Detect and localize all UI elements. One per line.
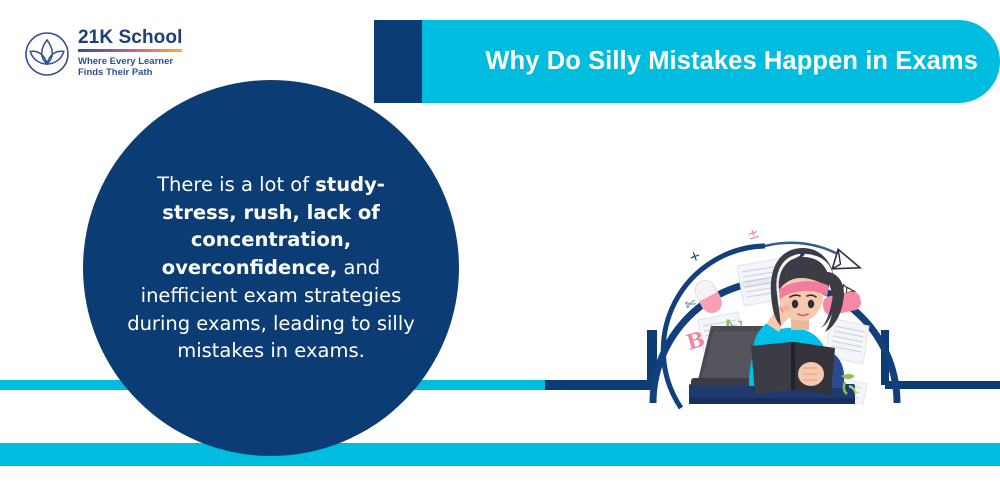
hand xyxy=(798,362,824,386)
brand-name: 21K School xyxy=(78,28,182,47)
desk-shadow xyxy=(689,398,855,404)
brand-tagline-line-2: Finds Their Path xyxy=(78,67,182,79)
header-accent-block xyxy=(374,20,422,103)
stressed-student-studying-illustration: 3 A B 2 ± ✕ ✄ xyxy=(645,198,925,428)
summary-text: There is a lot of study-stress, rush, la… xyxy=(121,171,421,365)
brand-tagline-line-1: Where Every Learner xyxy=(78,56,182,68)
summary-text-plain: There is a lot of xyxy=(157,173,315,196)
brand-underline xyxy=(78,49,182,52)
page-title: Why Do Silly Mistakes Happen in Exams xyxy=(485,47,978,76)
bottom-cyan-band xyxy=(0,443,1000,466)
summary-circle: There is a lot of study-stress, rush, la… xyxy=(83,80,459,456)
brand-logo[interactable]: 21K School Where Every Learner Finds The… xyxy=(24,28,182,79)
math-symbol: ✕ xyxy=(686,249,703,264)
lotus-circle-icon xyxy=(24,31,70,77)
brand-tagline: Where Every Learner Finds Their Path xyxy=(78,56,182,80)
header-banner: Why Do Silly Mistakes Happen in Exams xyxy=(422,20,1000,103)
open-book xyxy=(751,342,835,394)
infographic-canvas: 21K School Where Every Learner Finds The… xyxy=(0,0,1000,500)
brand-text: 21K School Where Every Learner Finds The… xyxy=(78,28,182,79)
